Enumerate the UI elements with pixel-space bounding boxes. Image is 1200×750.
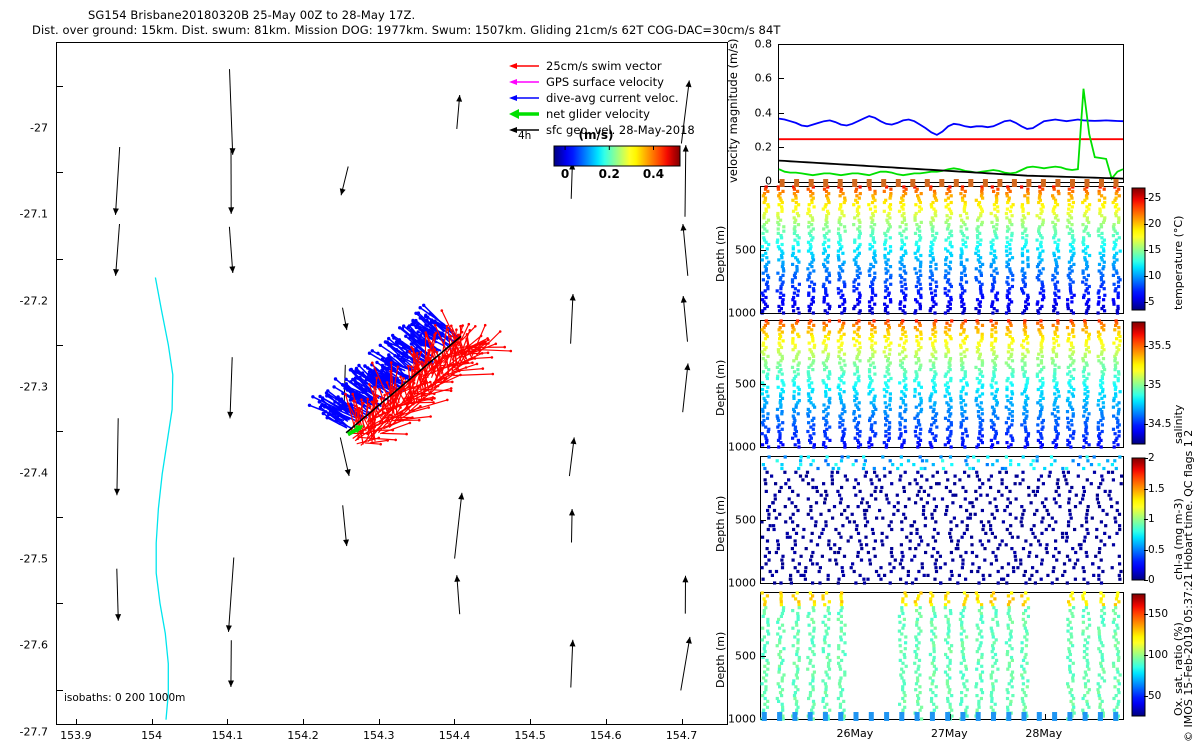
- colorbar-tickmark: [1144, 614, 1148, 615]
- colorbar-tick: 150: [1148, 608, 1168, 620]
- colorbar-tick: 50: [1148, 690, 1161, 702]
- map-x-tickmark: [530, 719, 531, 725]
- salinity-colorbar[interactable]: [1132, 322, 1145, 444]
- map-y-tickmark: [57, 345, 63, 346]
- map-y-tickmark: [57, 690, 63, 691]
- dive-markers: [760, 712, 1124, 722]
- velocity-y-tickmark: [779, 78, 784, 79]
- colorbar-tickmark: [1144, 424, 1148, 425]
- map-y-tickmark: [57, 86, 63, 87]
- colorbar-tick: 100: [1148, 649, 1168, 661]
- colorbar-tick: 5: [1148, 296, 1155, 308]
- colorbar-tick: 35: [1148, 379, 1161, 391]
- colorbar-tickmark: [1144, 276, 1148, 277]
- map-x-tickmark: [379, 719, 380, 725]
- map-y-tickmark: [57, 431, 63, 432]
- colorbar-tick: 20: [1148, 218, 1161, 230]
- map-x-tickmark: [454, 719, 455, 725]
- colorbar-tick: 25: [1148, 192, 1161, 204]
- map-x-tickmark: [606, 719, 607, 725]
- colorbar-tickmark: [1144, 250, 1148, 251]
- temperature-colorbar-title: temperature (°C): [1172, 216, 1185, 310]
- map-x-tickmark: [152, 719, 153, 725]
- velocity-y-tickmark: [779, 147, 784, 148]
- map-x-tickmark: [303, 719, 304, 725]
- colorbar-tick: 2: [1148, 452, 1155, 464]
- colorbar-tickmark: [1144, 580, 1148, 581]
- map-y-tickmark: [57, 603, 63, 604]
- velocity-y-tickmark: [779, 113, 784, 114]
- velocity-y-tickmark: [779, 44, 784, 45]
- map-x-tickmark: [227, 719, 228, 725]
- map-y-tickmark: [57, 517, 63, 518]
- colorbar-tickmark: [1144, 519, 1148, 520]
- map-x-tickmark: [682, 719, 683, 725]
- colorbar-tick: 0.5: [1148, 544, 1165, 556]
- time-tick: 28May: [1025, 727, 1062, 740]
- colorbar-tickmark: [1144, 655, 1148, 656]
- colorbar-tick: 15: [1148, 244, 1161, 256]
- colorbar-tick: 34.5: [1148, 418, 1171, 430]
- colorbar-tickmark: [1144, 489, 1148, 490]
- map-x-tickmark: [76, 719, 77, 725]
- colorbar-tickmark: [1144, 550, 1148, 551]
- colorbar-tickmark: [1144, 385, 1148, 386]
- map-y-tickmark: [57, 172, 63, 173]
- time-tick: 27May: [931, 727, 968, 740]
- profile-time-axis: 26May27May28May: [760, 721, 1124, 743]
- colorbar-tickmark: [1144, 458, 1148, 459]
- colorbar-tick: 35.5: [1148, 340, 1171, 352]
- colorbar-tickmark: [1144, 346, 1148, 347]
- colorbar-tick: 0: [1148, 574, 1155, 586]
- colorbar-tickmark: [1144, 198, 1148, 199]
- colorbar-tickmark: [1144, 696, 1148, 697]
- map-y-tickmark: [57, 259, 63, 260]
- colorbar-tickmark: [1144, 302, 1148, 303]
- dive-markers-velocity: [778, 179, 1124, 188]
- profile-colorbars: 510152025temperature (°C)34.53535.5salin…: [0, 0, 1200, 750]
- credit-text: © IMOS 15-Feb-2019 05:37:21 Hobart time.…: [1182, 430, 1195, 742]
- temperature-colorbar[interactable]: [1132, 188, 1145, 310]
- colorbar-tick: 1: [1148, 513, 1155, 525]
- colorbar-tickmark: [1144, 224, 1148, 225]
- colorbar-tick: 10: [1148, 270, 1161, 282]
- time-tick: 26May: [836, 727, 873, 740]
- colorbar-tick: 1.5: [1148, 483, 1165, 495]
